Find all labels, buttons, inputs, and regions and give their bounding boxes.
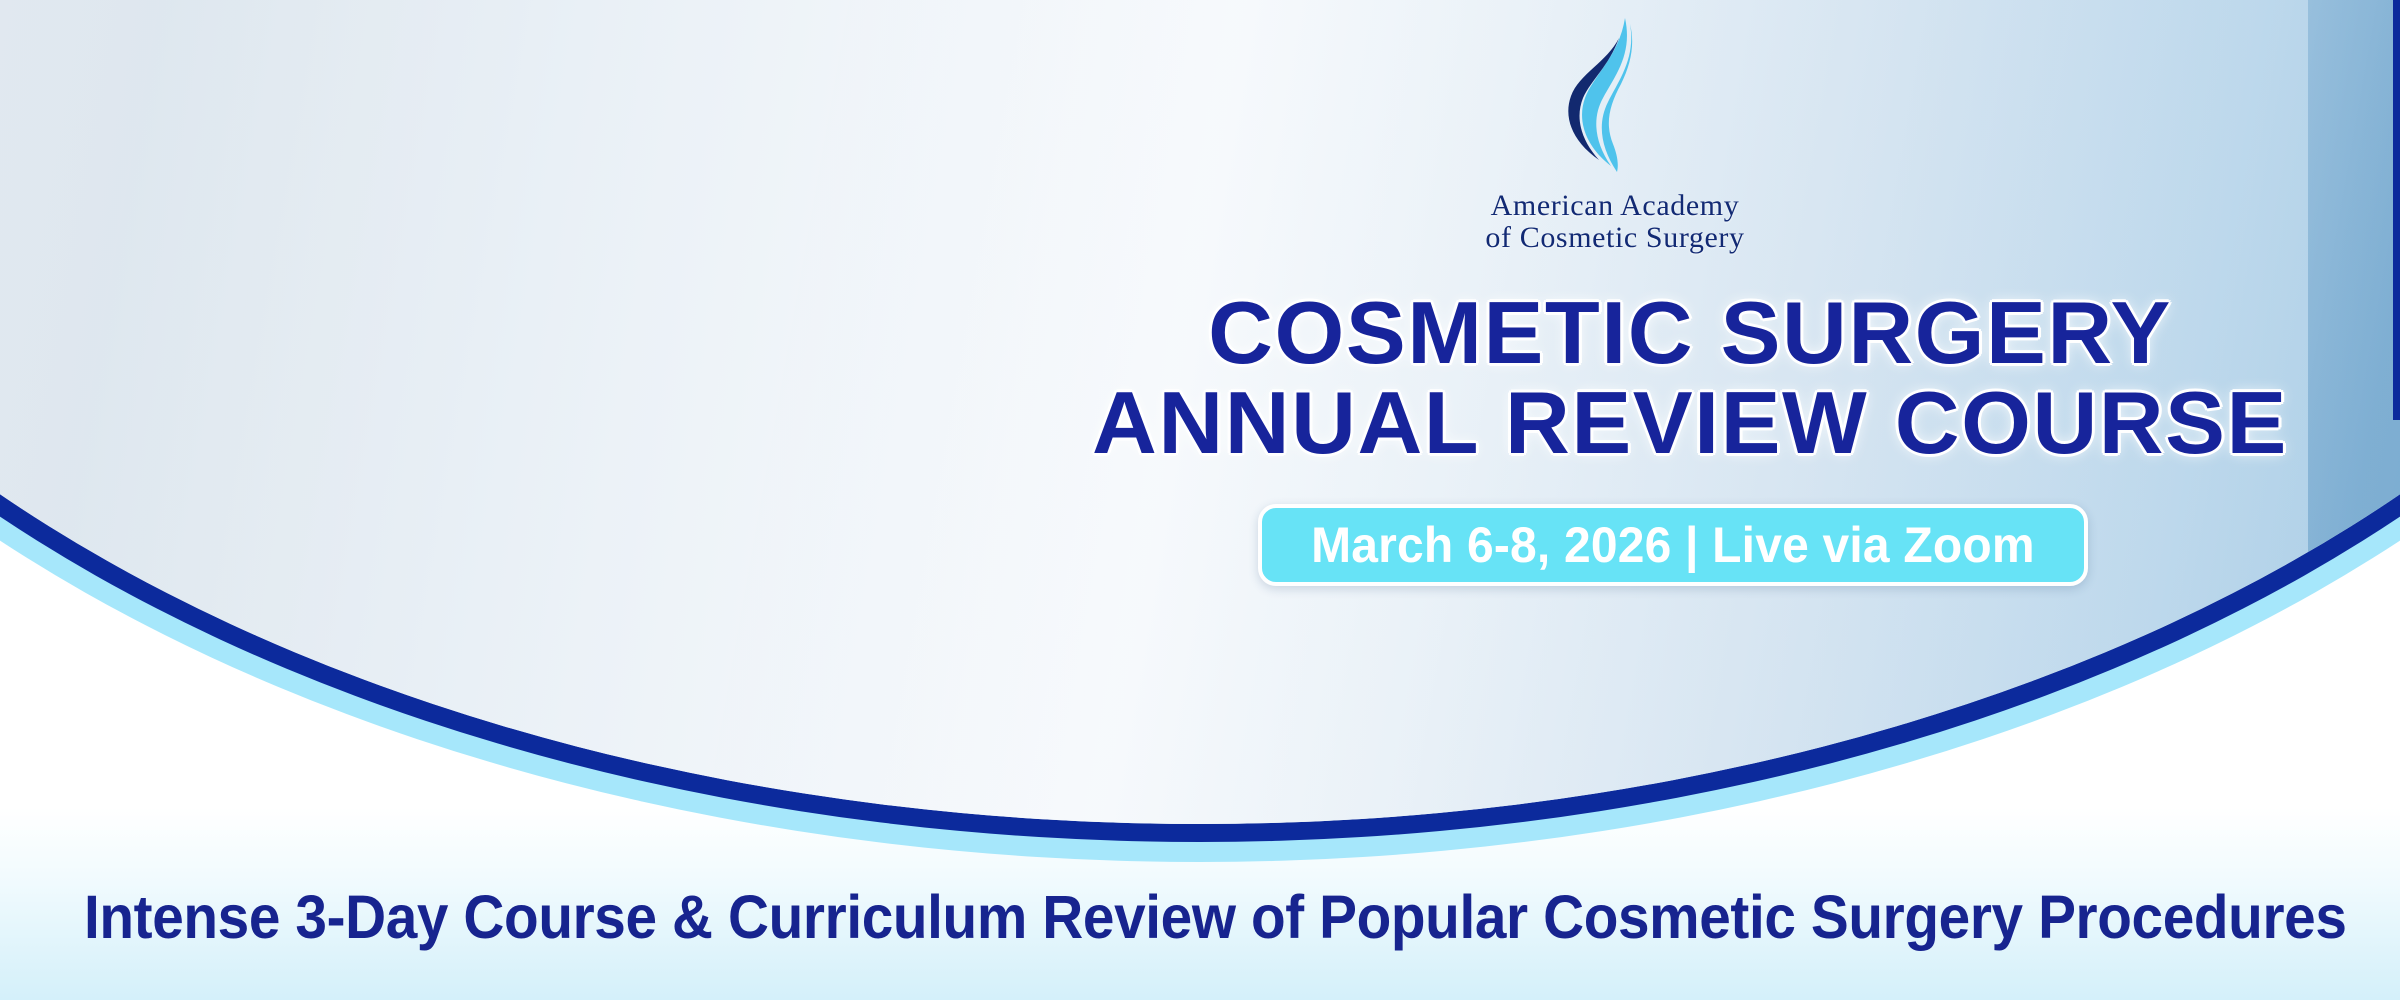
date-format-badge[interactable]: March 6-8, 2026 | Live via Zoom [1258, 504, 2088, 586]
event-promo-banner: American Academy of Cosmetic Surgery COS… [0, 0, 2400, 1000]
frame-right-edge [2393, 0, 2400, 420]
aacs-logo-text: American Academy of Cosmetic Surgery [1455, 190, 1775, 255]
headline-line-1: COSMETIC SURGERY [1027, 288, 2353, 378]
aacs-flame-logo-icon [1547, 14, 1697, 184]
org-name-line-1: American Academy [1455, 190, 1775, 222]
course-tagline: Intense 3-Day Course & Curriculum Review… [84, 882, 2316, 952]
org-name-line-2: of Cosmetic Surgery [1455, 222, 1775, 254]
event-headline: COSMETIC SURGERY ANNUAL REVIEW COURSE [1027, 288, 2353, 468]
headline-line-2: ANNUAL REVIEW COURSE [1027, 378, 2353, 468]
date-format-text: March 6-8, 2026 | Live via Zoom [1311, 516, 2035, 574]
aacs-logo: American Academy of Cosmetic Surgery [1455, 14, 1775, 254]
